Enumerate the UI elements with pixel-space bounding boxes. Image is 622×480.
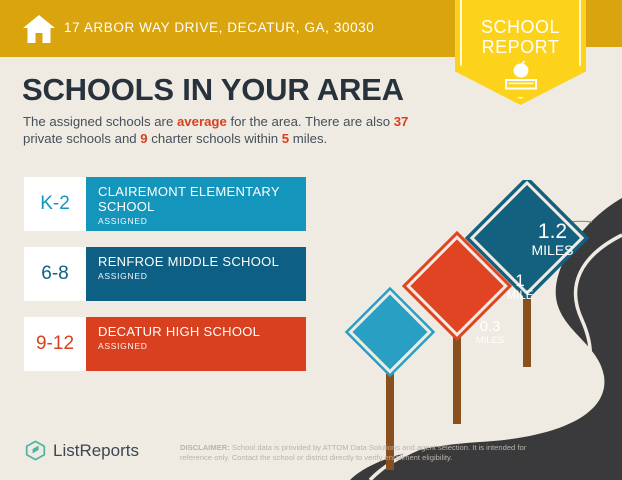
badge-title-line2: REPORT [455, 37, 586, 58]
home-icon [22, 13, 56, 45]
school-name: CLAIREMONT ELEMENTARY SCHOOL [98, 184, 306, 214]
summary-text: The assigned schools are average for the… [23, 113, 443, 147]
school-report-badge: SCHOOL REPORT [455, 0, 586, 105]
badge-title-line1: SCHOOL [455, 17, 586, 38]
house-pin-icon [25, 440, 46, 461]
road-graphic [330, 180, 622, 480]
summary-part5: miles. [289, 131, 327, 146]
school-row-elementary[interactable]: K-2 CLAIREMONT ELEMENTARY SCHOOL ASSIGNE… [24, 177, 306, 231]
logo-text: ListReports [53, 441, 139, 461]
school-name: RENFROE MIDDLE SCHOOL [98, 254, 306, 269]
grade-range-label: K-2 [40, 193, 70, 215]
property-address: 17 ARBOR WAY DRIVE, DECATUR, GA, 30030 [64, 20, 374, 35]
school-info-bar: CLAIREMONT ELEMENTARY SCHOOL ASSIGNED [86, 177, 306, 231]
school-info-bar: RENFROE MIDDLE SCHOOL ASSIGNED [86, 247, 306, 301]
school-name: DECATUR HIGH SCHOOL [98, 324, 306, 339]
disclaimer-body: School data is provided by ATTOM Data So… [180, 443, 526, 462]
grade-range-badge: 9-12 [24, 317, 86, 371]
summary-part2: for the area. There are also [227, 114, 394, 129]
school-status: ASSIGNED [98, 341, 306, 351]
summary-part4: charter schools within [148, 131, 282, 146]
listreports-logo[interactable]: ListReports [25, 440, 139, 461]
summary-part3: private schools and [23, 131, 140, 146]
rating-value: average [177, 114, 227, 129]
distance-road-illustration: 1.2 MILES 1 MILE 0.3 MILES [330, 180, 622, 480]
school-info-bar: DECATUR HIGH SCHOOL ASSIGNED [86, 317, 306, 371]
school-report-infographic: 17 ARBOR WAY DRIVE, DECATUR, GA, 30030 S… [0, 0, 622, 480]
school-status: ASSIGNED [98, 271, 306, 281]
apple-on-book-icon [499, 60, 543, 92]
school-row-high[interactable]: 9-12 DECATUR HIGH SCHOOL ASSIGNED [24, 317, 306, 371]
school-status: ASSIGNED [98, 216, 306, 226]
grade-range-badge: K-2 [24, 177, 86, 231]
disclaimer-label: DISCLAIMER: [180, 443, 230, 452]
grade-range-label: 6-8 [41, 263, 68, 285]
page-title: SCHOOLS IN YOUR AREA [22, 72, 404, 108]
summary-part1: The assigned schools are [23, 114, 177, 129]
grade-range-label: 9-12 [36, 333, 74, 355]
private-school-count: 37 [394, 114, 409, 129]
school-row-middle[interactable]: 6-8 RENFROE MIDDLE SCHOOL ASSIGNED [24, 247, 306, 301]
charter-school-count: 9 [140, 131, 147, 146]
grade-range-badge: 6-8 [24, 247, 86, 301]
disclaimer-text: DISCLAIMER: School data is provided by A… [180, 443, 560, 463]
